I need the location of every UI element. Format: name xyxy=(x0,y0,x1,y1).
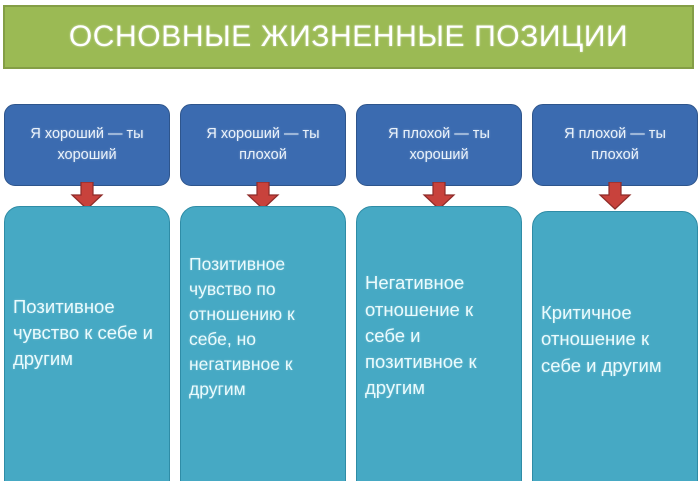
position-column-3: Я плохой — ты хороший Негативное отношен… xyxy=(356,0,522,481)
position-card-4[interactable]: Я плохой — ты плохой xyxy=(532,104,698,186)
description-card-2-text: Позитивное чувство по отношению к себе, … xyxy=(189,254,295,398)
position-column-4: Я плохой — ты плохой Критичное отношение… xyxy=(532,0,698,481)
description-card-1-text: Позитивное чувство к себе и другим xyxy=(13,296,153,370)
position-column-1: Я хороший — ты хороший Позитивное чувств… xyxy=(4,0,170,481)
description-card-4[interactable]: Критичное отношение к себе и другим xyxy=(532,211,698,481)
description-card-3-text: Негативное отношение к себе и позитивное… xyxy=(365,272,477,398)
description-card-3[interactable]: Негативное отношение к себе и позитивное… xyxy=(356,206,522,481)
description-card-4-text: Критичное отношение к себе и другим xyxy=(541,302,662,376)
position-card-2-label: Я хороший — ты плохой xyxy=(191,124,335,166)
description-card-2[interactable]: Позитивное чувство по отношению к себе, … xyxy=(180,206,346,481)
position-card-4-label: Я плохой — ты плохой xyxy=(543,124,687,166)
position-card-3[interactable]: Я плохой — ты хороший xyxy=(356,104,522,186)
position-card-1-label: Я хороший — ты хороший xyxy=(15,124,159,166)
position-card-2[interactable]: Я хороший — ты плохой xyxy=(180,104,346,186)
position-card-1[interactable]: Я хороший — ты хороший xyxy=(4,104,170,186)
diagram-canvas: ОСНОВНЫЕ ЖИЗНЕННЫЕ ПОЗИЦИИ Я хороший — т… xyxy=(0,0,700,481)
arrow-down-icon xyxy=(598,182,632,210)
description-card-1[interactable]: Позитивное чувство к себе и другим xyxy=(4,206,170,481)
position-card-3-label: Я плохой — ты хороший xyxy=(367,124,511,166)
position-column-2: Я хороший — ты плохой Позитивное чувство… xyxy=(180,0,346,481)
